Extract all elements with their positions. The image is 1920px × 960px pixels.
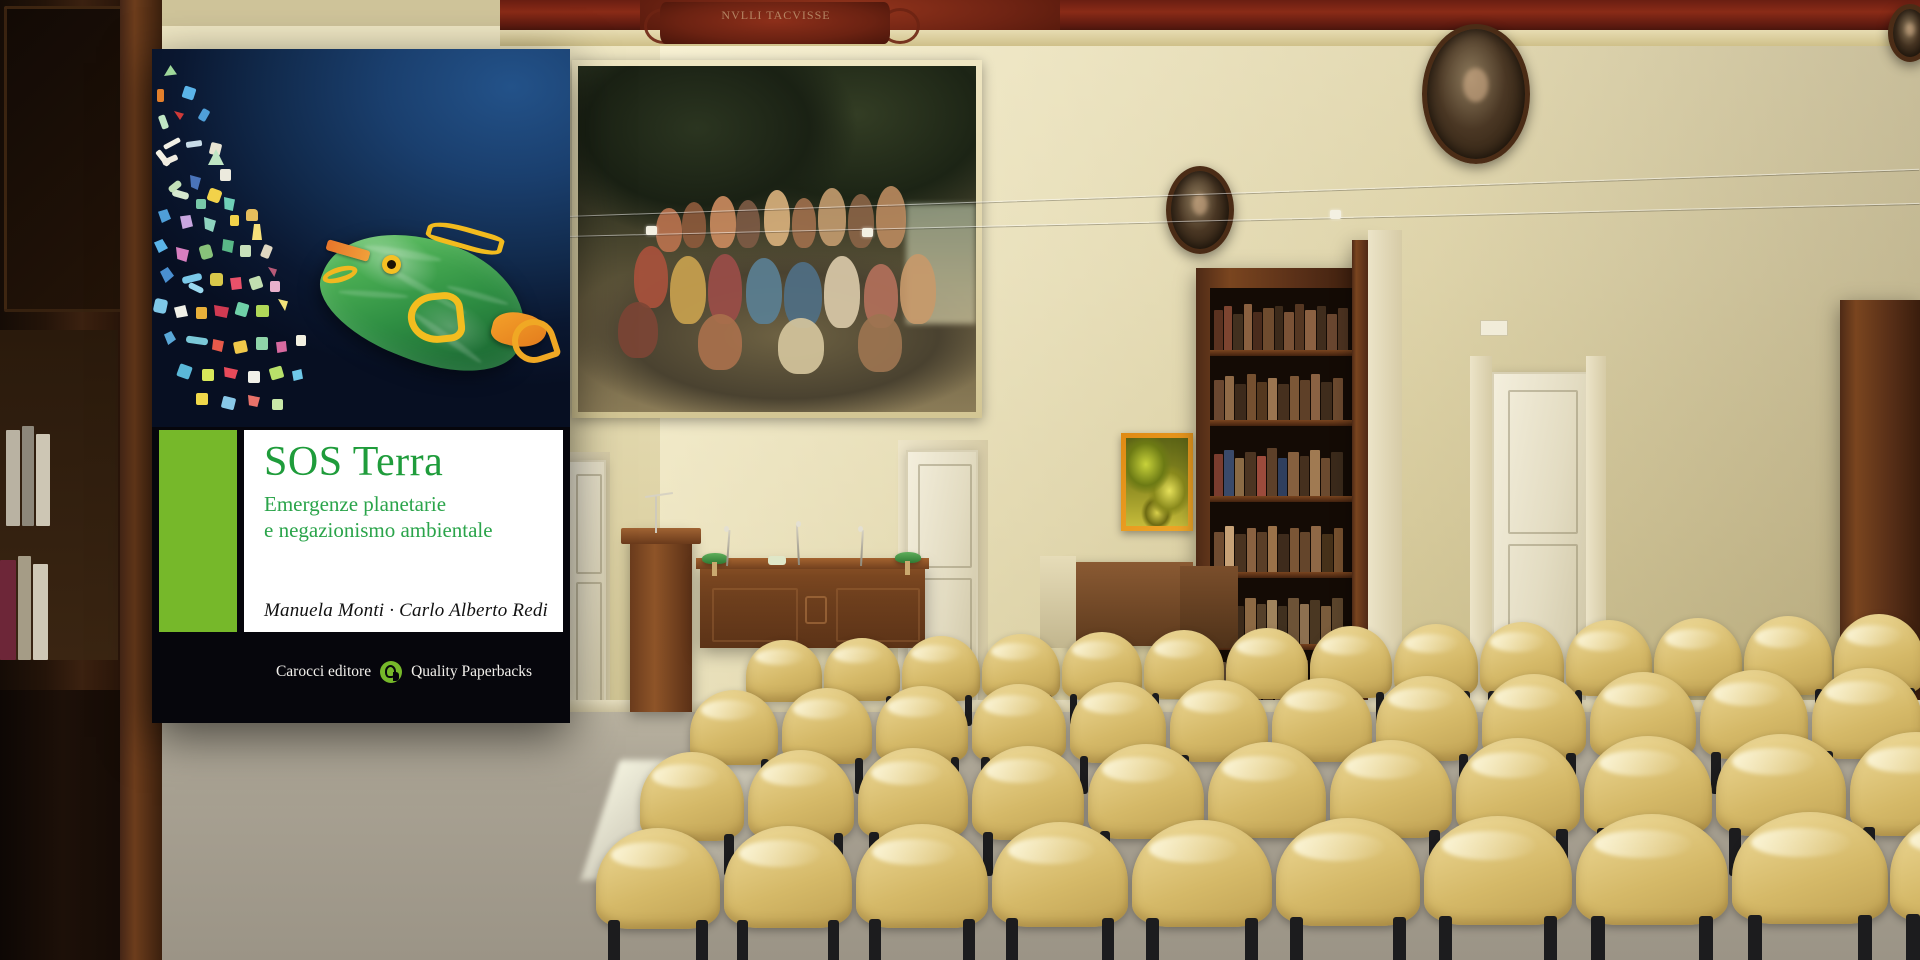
plastic-bit <box>220 169 231 181</box>
chair-highlight <box>911 645 961 662</box>
publisher-imprint: Carocci editore Quality Paperbacks <box>244 657 564 687</box>
plastic-bit <box>210 273 223 286</box>
book <box>1224 450 1234 496</box>
plastic-bit <box>256 305 269 317</box>
fresco-figure <box>818 188 846 246</box>
door-panel <box>576 474 602 574</box>
book <box>1338 308 1348 350</box>
plastic-bit <box>256 337 268 350</box>
chair-highlight <box>985 759 1057 783</box>
chair-highlight <box>793 699 851 719</box>
book <box>1268 378 1277 420</box>
book <box>1321 382 1332 420</box>
wire-clip <box>1330 210 1341 219</box>
fish-wrinkle <box>338 289 408 300</box>
chair-highlight <box>1008 837 1095 864</box>
plastic-bit <box>296 335 306 346</box>
shelf-board <box>1210 350 1352 356</box>
cover-green-accent-block <box>159 430 237 632</box>
plastic-bit <box>246 209 258 221</box>
chair-highlight <box>755 649 804 665</box>
door-panel <box>1508 390 1578 534</box>
book <box>1311 374 1320 420</box>
door <box>566 460 606 712</box>
book <box>1267 448 1277 496</box>
auditorium-chair <box>724 826 852 960</box>
book <box>1321 458 1330 496</box>
cabinet-lower <box>0 690 140 960</box>
chair-leg <box>696 920 707 960</box>
book <box>1295 304 1304 350</box>
book <box>1224 306 1232 350</box>
book <box>1247 374 1256 420</box>
book <box>1257 382 1267 420</box>
chair-leg <box>869 919 881 960</box>
book <box>1331 452 1343 496</box>
chair-highlight <box>1594 830 1691 859</box>
chair-highlight <box>1732 748 1815 775</box>
shelf-board <box>1210 420 1352 426</box>
book <box>1278 458 1287 496</box>
book <box>1235 384 1246 420</box>
chair-highlight <box>701 700 757 719</box>
fresco-figure <box>736 200 760 248</box>
auditorium-chair <box>1890 810 1920 960</box>
cabinet-glass-shelf <box>0 330 118 660</box>
plastic-bit <box>270 281 280 292</box>
desk-panel <box>836 588 920 642</box>
chair-highlight <box>1236 638 1288 656</box>
chair-highlight <box>1494 686 1561 708</box>
desk-crest <box>805 596 827 624</box>
book <box>1275 306 1283 350</box>
chair-leg <box>608 920 619 960</box>
fresco-figure <box>858 314 902 372</box>
chair-leg <box>1393 917 1406 960</box>
desk-lamp-base <box>712 562 717 576</box>
chair-leg <box>1906 914 1920 960</box>
chair-back <box>1576 814 1728 925</box>
chair-highlight <box>1442 831 1537 859</box>
book <box>1300 532 1310 572</box>
book <box>1333 378 1343 420</box>
plastic-bit <box>230 215 239 226</box>
quality-paperbacks-logo <box>380 661 402 683</box>
chair-highlight <box>1072 641 1123 659</box>
fresco-figure <box>656 208 682 252</box>
chair-highlight <box>1102 757 1176 782</box>
book <box>18 556 31 660</box>
fresco-figure <box>634 246 668 308</box>
chair-highlight <box>1825 681 1895 705</box>
microphone-head <box>796 521 801 527</box>
chair-highlight <box>1471 752 1550 778</box>
auditorium-chair <box>1576 814 1728 960</box>
book <box>1235 458 1244 496</box>
wire-clip <box>862 228 873 237</box>
book <box>1311 526 1321 572</box>
chair-highlight <box>1603 684 1671 707</box>
shelf-board <box>1210 496 1352 502</box>
chair-leg <box>1245 918 1258 960</box>
chair-back <box>1732 812 1888 924</box>
chair-highlight <box>1755 627 1811 648</box>
book <box>1247 528 1256 572</box>
book <box>1278 384 1289 420</box>
chair-highlight <box>991 643 1041 660</box>
book <box>1253 312 1262 350</box>
book-cover[interactable]: SOS Terra Emergenze planetarie e negazio… <box>152 49 570 723</box>
wire-clip <box>646 226 657 235</box>
book-subtitle-line2: e negazionismo ambientale <box>264 517 564 543</box>
fresco-figure <box>876 186 906 248</box>
chair-highlight <box>1599 750 1681 776</box>
chair-highlight <box>652 764 719 787</box>
chair-highlight <box>1182 691 1245 712</box>
microphone-head <box>858 526 863 532</box>
chair-highlight <box>1345 754 1423 779</box>
oval-portrait <box>1422 24 1530 164</box>
series-name: Quality Paperbacks <box>411 663 532 681</box>
chair-leg <box>963 919 975 960</box>
book-title: SOS Terra <box>264 439 564 485</box>
chair-highlight <box>1149 835 1239 863</box>
chair-highlight <box>1751 828 1851 857</box>
fresco-figure <box>824 256 860 328</box>
chair-highlight <box>1866 747 1920 774</box>
chair-leg <box>1146 918 1159 960</box>
wall-switch[interactable] <box>1480 320 1508 336</box>
podium-top <box>621 528 701 544</box>
podium-microphone <box>655 495 657 533</box>
book <box>1278 534 1289 572</box>
chair-highlight <box>1388 688 1453 710</box>
modern-painting-canvas <box>1126 438 1188 526</box>
book <box>1244 304 1252 350</box>
auditorium-chair <box>992 822 1128 960</box>
chair-back <box>1276 818 1420 926</box>
book <box>1233 314 1243 350</box>
chair-back <box>992 822 1128 927</box>
chair-highlight <box>1082 693 1143 714</box>
book <box>1310 450 1320 496</box>
book <box>1268 526 1277 572</box>
chair-back <box>856 824 988 928</box>
plastic-bit <box>276 341 287 353</box>
chair-highlight <box>1284 690 1348 712</box>
chair-leg <box>1748 915 1762 960</box>
book <box>0 560 16 660</box>
book <box>1214 310 1223 350</box>
portrait-face <box>1463 68 1488 102</box>
chair-leg <box>1102 918 1114 960</box>
portrait-face <box>1906 23 1915 35</box>
plastic-bit <box>157 89 164 102</box>
chair-highlight <box>887 697 946 717</box>
plastic-bit <box>272 399 283 410</box>
book <box>1322 534 1333 572</box>
screenshot-root: NVLLI TACVISSE <box>0 0 1920 960</box>
chair-highlight <box>983 695 1043 716</box>
chair-highlight <box>1404 634 1458 653</box>
book <box>1334 528 1343 572</box>
auditorium-chair <box>1132 820 1272 960</box>
fresco-figure <box>792 198 816 248</box>
fresco-figure <box>682 202 706 248</box>
book <box>1225 376 1234 420</box>
book <box>1257 456 1266 496</box>
chair-highlight <box>833 647 882 663</box>
auditorium-chair <box>1732 812 1888 960</box>
chair-highlight <box>739 840 821 867</box>
chair-highlight <box>1293 833 1385 861</box>
door-panel <box>918 464 972 568</box>
book <box>22 426 34 526</box>
book <box>1263 308 1274 350</box>
fresco-figure <box>618 302 658 358</box>
plastic-bit <box>202 369 214 381</box>
book <box>1245 452 1256 496</box>
auditorium-chair <box>596 828 720 960</box>
chair-highlight <box>1320 636 1372 655</box>
chair-leg <box>1439 916 1452 960</box>
chair-back <box>1424 816 1572 925</box>
chair-highlight <box>1222 756 1298 781</box>
chair-highlight <box>1154 640 1205 658</box>
book-authors: Manuela Monti · Carlo Alberto Redi <box>264 600 564 622</box>
chair-highlight <box>611 842 690 868</box>
book <box>1284 312 1294 350</box>
chair-highlight <box>1909 826 1920 856</box>
chair-highlight <box>1845 625 1903 646</box>
auditorium-chair <box>1424 816 1572 960</box>
book <box>1214 380 1224 420</box>
chair-highlight <box>1713 682 1782 705</box>
portrait-face <box>1192 194 1207 214</box>
book <box>6 430 20 526</box>
book-subtitle: Emergenze planetarie e negazionismo ambi… <box>264 491 564 543</box>
book <box>1305 310 1316 350</box>
desk-panel <box>712 588 798 642</box>
historic-fresco-painting <box>578 66 976 412</box>
fresco-figure <box>746 258 782 324</box>
plastic-bit <box>230 277 242 290</box>
book <box>1257 532 1267 572</box>
fresco-figure <box>710 196 736 248</box>
fresco-figure <box>778 318 824 374</box>
fish-wrinkle <box>364 243 442 264</box>
oval-portrait <box>1166 166 1234 254</box>
book <box>1288 452 1299 496</box>
modern-painting <box>1121 433 1193 531</box>
book <box>1300 380 1310 420</box>
book <box>36 434 50 526</box>
cartouche-text: NVLLI TACVISSE <box>678 8 874 38</box>
chair-highlight <box>1665 629 1721 649</box>
chair-leg <box>1591 916 1605 960</box>
chair-highlight <box>872 839 956 866</box>
door-panel <box>576 582 602 702</box>
chair-leg <box>1290 917 1303 960</box>
plastic-bag-fish <box>320 221 542 373</box>
chair-leg <box>1858 915 1872 960</box>
desk-top <box>696 558 929 569</box>
chair-back <box>596 828 720 929</box>
chair-highlight <box>871 761 941 785</box>
fresco-figure <box>708 254 742 324</box>
plastic-bit <box>196 393 208 405</box>
chair-highlight <box>1576 631 1631 651</box>
chair-leg <box>828 920 840 960</box>
book-subtitle-line1: Emergenze planetarie <box>264 491 564 517</box>
chair-back <box>724 826 852 928</box>
plastic-bit <box>196 199 206 209</box>
chair-leg <box>1544 916 1557 960</box>
chair-highlight <box>761 763 829 787</box>
auditorium-chair <box>1276 818 1420 960</box>
plastic-bit <box>196 307 207 319</box>
painted-cartouche-inscription: NVLLI TACVISSE <box>660 2 890 44</box>
fresco-figure <box>900 254 936 324</box>
auditorium-chair <box>856 824 988 960</box>
fish-eye <box>382 255 401 274</box>
desk-papers <box>768 556 786 565</box>
publisher-name: Carocci editore <box>276 663 371 681</box>
fish-tail <box>492 309 556 369</box>
book <box>1300 456 1309 496</box>
desk-lamp-base <box>905 561 910 575</box>
book <box>33 564 48 660</box>
book <box>1317 306 1326 350</box>
fresco-figure <box>670 256 706 324</box>
fresco-figure <box>848 194 874 248</box>
book <box>1290 528 1299 572</box>
podium <box>630 532 692 712</box>
microphone-head <box>724 526 729 532</box>
book <box>1327 314 1337 350</box>
book <box>1290 376 1299 420</box>
chair-highlight <box>1490 632 1544 651</box>
chair-back <box>1132 820 1272 927</box>
fresco-figure <box>698 314 742 370</box>
chair-leg <box>1699 916 1713 960</box>
plastic-bit <box>240 245 251 257</box>
chair-leg <box>1006 918 1018 960</box>
chair-back <box>1890 810 1920 924</box>
plastic-bit <box>248 371 260 383</box>
book <box>1214 454 1223 496</box>
fresco-figure <box>764 190 790 246</box>
chair-leg <box>737 920 749 960</box>
